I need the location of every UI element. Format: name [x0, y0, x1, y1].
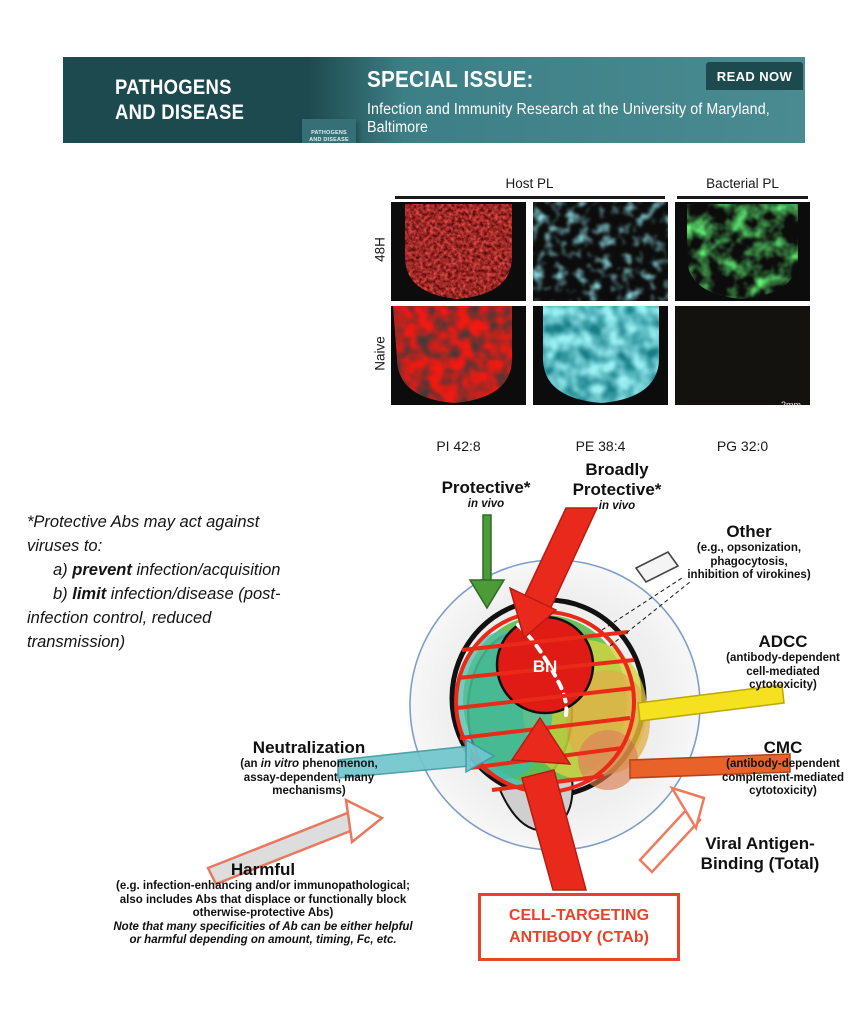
panel-naive-pe38-4 [533, 306, 668, 405]
brand-line-2: AND DISEASE [115, 100, 244, 125]
footnote-item-a-bold: prevent [72, 561, 132, 579]
cmc-subtitle-2: complement-mediated [698, 772, 868, 786]
footnote-item-b-rest: infection/disease (post- [106, 585, 280, 603]
protective-abs-footnote: *Protective Abs may act against viruses … [27, 510, 337, 654]
label-cmc: CMC (antibody-dependent complement-media… [698, 738, 868, 799]
footnote-item-a-prefix: a) [53, 561, 72, 579]
footnote-item-b-prefix: b) [53, 585, 72, 603]
broadly-protective-subtitle: in vivo [522, 500, 712, 514]
special-issue-label: SPECIAL ISSUE: [367, 66, 534, 93]
neutralization-sub1-pre: (an [240, 758, 260, 770]
cover-title-area: PATHOGENS AND DISEASE [302, 119, 356, 143]
cmc-subtitle-1: (antibody-dependent [698, 758, 868, 772]
fluorescence-image-blank [675, 306, 810, 405]
adcc-subtitle-3: cytotoxicity) [700, 679, 866, 693]
viral-antigen-binding-line-1: Viral Antigen- [662, 834, 858, 854]
group-rule-host-pl [395, 196, 665, 199]
cmc-title: CMC [698, 738, 868, 758]
harmful-subtitle-2: also includes Abs that displace or funct… [48, 894, 478, 908]
journal-promo-banner[interactable]: PATHOGENS AND DISEASE PATHOGENS AND DISE… [63, 57, 805, 143]
journal-cover-thumbnail[interactable]: PATHOGENS AND DISEASE FEMS [302, 119, 356, 143]
neutralization-sub1-italic: in vitro [261, 758, 299, 770]
neutralization-subtitle-1: (an in vitro phenomenon, [178, 758, 440, 772]
ctab-line-1: CELL-TARGETING [509, 905, 649, 927]
harmful-note-1: Note that many specificities of Ab can b… [48, 921, 478, 935]
column-label-pe38-4: PE 38:4 [533, 438, 668, 454]
label-viral-antigen-binding: Viral Antigen- Binding (Total) [662, 834, 858, 874]
bn-label: BN [533, 657, 558, 676]
ctab-line-2: ANTIBODY (CTAb) [509, 927, 649, 949]
other-subtitle-3: inhibition of virokines) [643, 569, 855, 583]
label-adcc: ADCC (antibody-dependent cell-mediated c… [700, 632, 866, 693]
panel-48h-pg32-0 [675, 202, 810, 301]
brand-wordmark: PATHOGENS AND DISEASE [115, 75, 262, 125]
bn-label-group: BN [533, 657, 558, 676]
fluorescence-image-green-reticular [675, 202, 810, 301]
neutralization-subtitle-2: assay-dependent, many [178, 772, 440, 786]
cmc-subtitle-3: cytotoxicity) [698, 785, 868, 799]
label-neutralization: Neutralization (an in vitro phenomenon, … [178, 738, 440, 799]
adcc-subtitle-2: cell-mediated [700, 666, 866, 680]
fluorescence-image-cyan-solid [533, 306, 668, 405]
label-harmful: Harmful (e.g. infection-enhancing and/or… [48, 860, 478, 948]
panel-naive-pi42-8 [391, 306, 526, 405]
row-label-48h: 48H [373, 205, 388, 295]
footnote-line-5: infection control, reduced [27, 606, 337, 630]
label-other: Other (e.g., opsonization, phagocytosis,… [643, 522, 855, 583]
footnote-line-1: *Protective Abs may act against [27, 510, 337, 534]
column-label-pg32-0: PG 32:0 [675, 438, 810, 454]
cover-title-line-2: AND DISEASE [309, 137, 349, 143]
scale-bar-label: 2mm [781, 400, 801, 410]
fluorescence-image-red-speckled [391, 202, 526, 301]
harmful-subtitle-1: (e.g. infection-enhancing and/or immunop… [48, 880, 478, 894]
microscopy-figure: Host PL Bacterial PL 48H Naive [355, 176, 810, 446]
other-subtitle-2: phagocytosis, [643, 556, 855, 570]
harmful-subtitle-3: otherwise-protective Abs) [48, 907, 478, 921]
footnote-item-b: b) limit infection/disease (post- [53, 582, 337, 606]
label-broadly-protective: Broadly Protective* in vivo [522, 460, 712, 514]
ctab-callout-box: CELL-TARGETING ANTIBODY (CTAb) [478, 893, 680, 961]
neutralization-subtitle-3: mechanisms) [178, 785, 440, 799]
adcc-subtitle-1: (antibody-dependent [700, 652, 866, 666]
special-issue-subtitle: Infection and Immunity Research at the U… [367, 101, 770, 137]
column-label-pi42-8: PI 42:8 [391, 438, 526, 454]
panel-naive-pg32-0 [675, 306, 810, 405]
harmful-note-2: or harmful depending on amount, timing, … [48, 934, 478, 948]
cover-title-line-1: PATHOGENS [311, 130, 347, 137]
other-title: Other [643, 522, 855, 542]
neutralization-title: Neutralization [178, 738, 440, 758]
neutralization-sub1-post: phenomenon, [299, 758, 378, 770]
brand-line-1: PATHOGENS [115, 75, 244, 100]
read-now-button[interactable]: READ NOW [706, 62, 803, 90]
harmful-title: Harmful [48, 860, 478, 880]
group-header-host-pl: Host PL [391, 176, 668, 191]
panel-48h-pi42-8 [391, 202, 526, 301]
broadly-protective-title-line2: Protective* [522, 480, 712, 500]
footnote-item-a-rest: infection/acquisition [132, 561, 281, 579]
scale-bar [743, 418, 815, 422]
viral-antigen-binding-line-2: Binding (Total) [662, 854, 858, 874]
panel-48h-pe38-4 [533, 202, 668, 301]
fluorescence-image-red-solid [391, 306, 526, 405]
adcc-title: ADCC [700, 632, 866, 652]
row-label-naive: Naive [373, 309, 388, 399]
banner-message-panel: SPECIAL ISSUE: Infection and Immunity Re… [306, 57, 805, 143]
figure-panel-grid: 48H Naive [391, 202, 810, 408]
fluorescence-image-cyan-punctate [533, 202, 668, 301]
footnote-line-6: transmission) [27, 630, 337, 654]
footnote-line-2: viruses to: [27, 534, 337, 558]
figure-group-headers: Host PL Bacterial PL [391, 176, 810, 202]
footnote-item-a: a) prevent infection/acquisition [53, 558, 337, 582]
antibody-function-diagram: BN *Protective Abs may act against virus… [0, 460, 868, 1020]
broadly-protective-title-line1: Broadly [522, 460, 712, 480]
footnote-item-b-bold: limit [72, 585, 106, 603]
group-header-bacterial-pl: Bacterial PL [675, 176, 810, 191]
banner-brand-panel: PATHOGENS AND DISEASE [63, 57, 306, 143]
other-subtitle-1: (e.g., opsonization, [643, 542, 855, 556]
group-rule-bacterial-pl [677, 196, 808, 199]
